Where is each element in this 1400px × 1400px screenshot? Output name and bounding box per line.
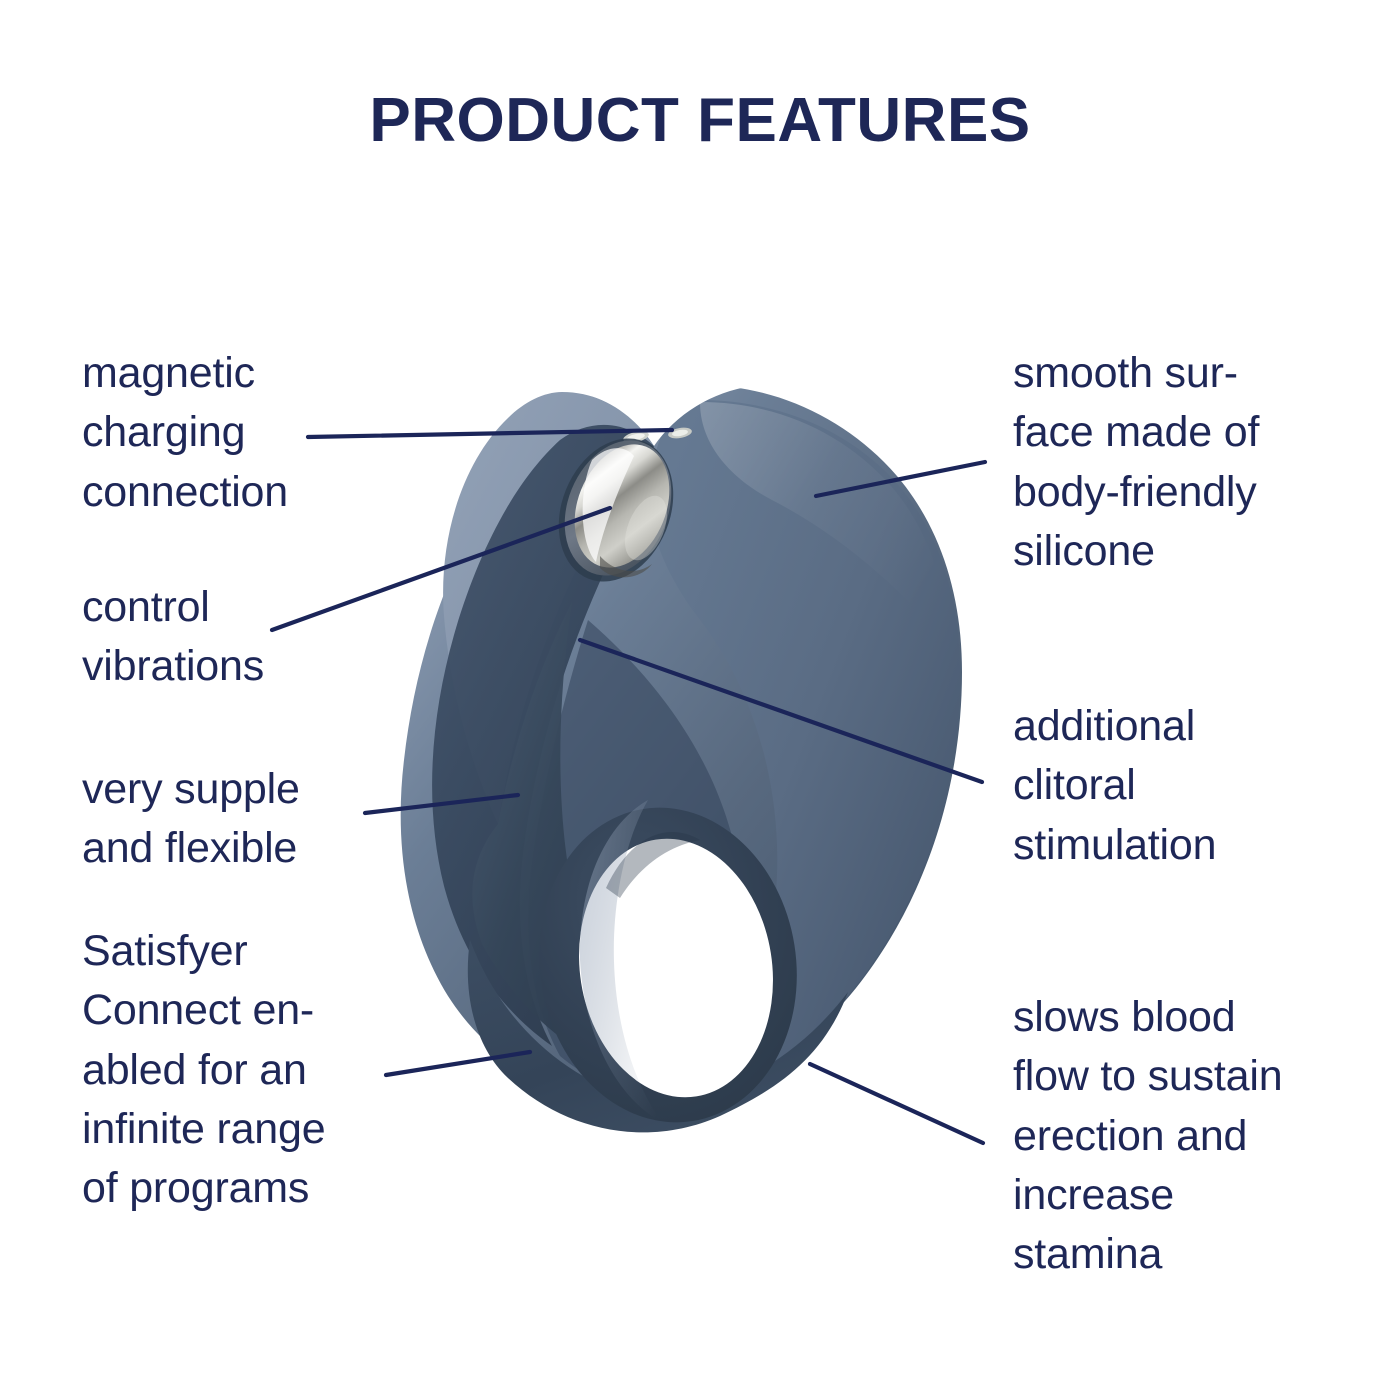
callout-control-vibrations: control vibrations xyxy=(82,578,382,697)
product-features-infographic: PRODUCT FEATURES xyxy=(0,0,1400,1400)
callout-line: stimulation xyxy=(1013,816,1343,875)
callout-line: control xyxy=(82,578,382,637)
callout-line: of programs xyxy=(82,1159,402,1218)
callout-line: silicone xyxy=(1013,522,1343,581)
callout-line: erection and xyxy=(1013,1107,1358,1166)
callout-line: flow to sustain xyxy=(1013,1047,1358,1106)
callout-line: stamina xyxy=(1013,1225,1358,1284)
callout-line: magnetic xyxy=(82,344,382,403)
callout-line: body-friendly xyxy=(1013,463,1343,522)
callout-line: and flexible xyxy=(82,819,392,878)
callout-line: very supple xyxy=(82,760,392,819)
callout-line: smooth sur- xyxy=(1013,344,1343,403)
callout-slows-blood-flow: slows blood flow to sustain erection and… xyxy=(1013,988,1358,1285)
callout-line: infinite range xyxy=(82,1100,402,1159)
callout-line: Connect en- xyxy=(82,981,402,1040)
callout-very-supple-and-flexible: very supple and flexible xyxy=(82,760,392,879)
callout-line: additional xyxy=(1013,697,1343,756)
callout-satisfyer-connect-enabled: Satisfyer Connect en- abled for an infin… xyxy=(82,922,402,1219)
callout-line: increase xyxy=(1013,1166,1358,1225)
callout-magnetic-charging-connection: magnetic charging connection xyxy=(82,344,382,522)
callout-line: connection xyxy=(82,463,382,522)
callout-line: Satisfyer xyxy=(82,922,402,981)
callout-line: face made of xyxy=(1013,403,1343,462)
callout-line: charging xyxy=(82,403,382,462)
callout-line: vibrations xyxy=(82,637,382,696)
callout-additional-clitoral-stimulation: additional clitoral stimulation xyxy=(1013,697,1343,875)
callout-line: slows blood xyxy=(1013,988,1358,1047)
callout-line: clitoral xyxy=(1013,756,1343,815)
callout-line: abled for an xyxy=(82,1041,402,1100)
callout-smooth-surface-silicone: smooth sur- face made of body-friendly s… xyxy=(1013,344,1343,581)
